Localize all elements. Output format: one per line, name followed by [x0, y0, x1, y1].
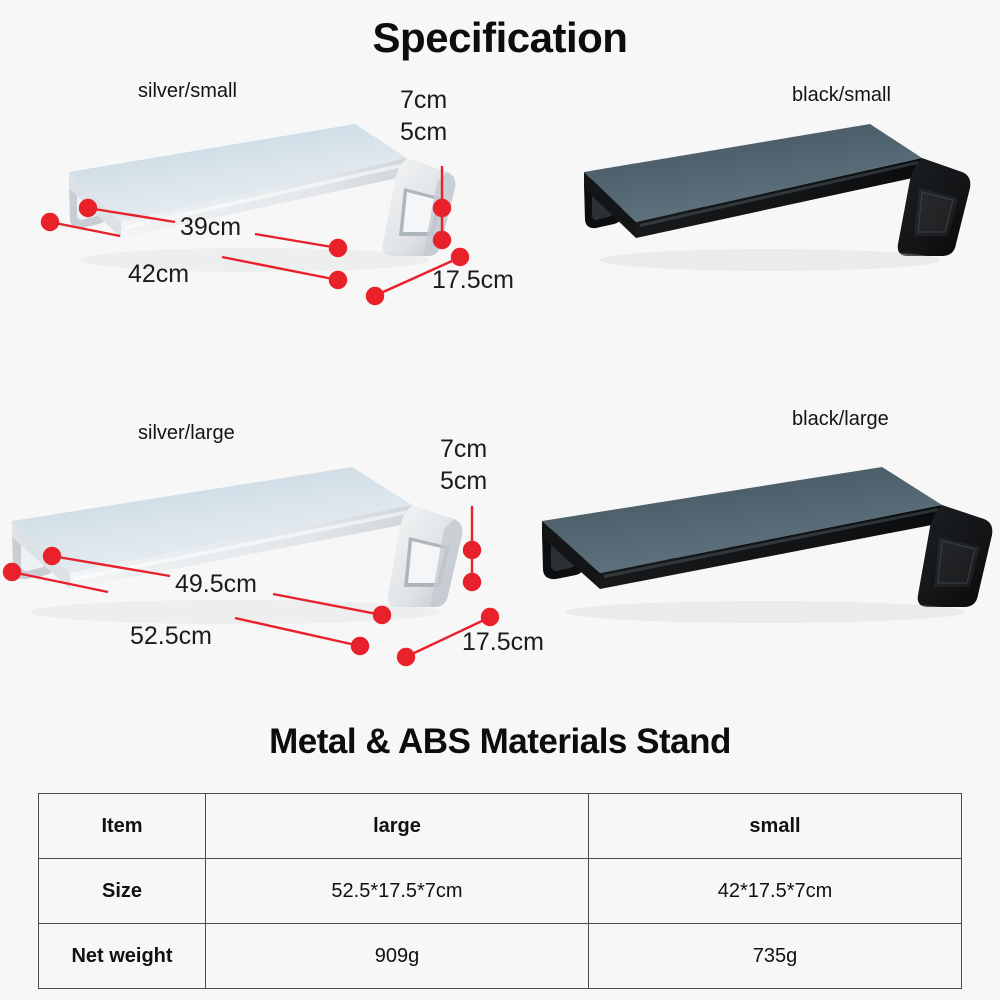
product-black-large: black/large	[525, 400, 1000, 670]
dim-outer-length-silver-small: 42cm	[128, 260, 189, 289]
table-row-net-weight: Net weight 909g 735g	[39, 924, 962, 989]
dim-inner-length-silver-large: 49.5cm	[175, 570, 257, 599]
specification-table: Item large small Size 52.5*17.5*7cm 42*1…	[38, 793, 962, 989]
table-cell-size-small: 42*17.5*7cm	[589, 859, 962, 924]
dim-height-inner-silver-large: 5cm	[440, 467, 487, 496]
stand-illustration-black-large	[530, 455, 1000, 665]
dim-inner-length-silver-small: 39cm	[180, 213, 241, 242]
product-label-silver-large: silver/large	[138, 422, 235, 445]
dim-depth-silver-small: 17.5cm	[432, 266, 514, 295]
stand-illustration-silver-large	[0, 455, 500, 665]
page-title: Specification	[0, 14, 1000, 62]
dim-height-inner-silver-small: 5cm	[400, 118, 447, 147]
table-rowhead-size: Size	[39, 859, 206, 924]
dim-height-outer-silver-small: 7cm	[400, 86, 447, 115]
table-header-small: small	[589, 794, 962, 859]
table-cell-weight-large: 909g	[206, 924, 589, 989]
table-cell-size-large: 52.5*17.5*7cm	[206, 859, 589, 924]
materials-heading: Metal & ABS Materials Stand	[0, 722, 1000, 762]
product-silver-large: silver/large	[0, 410, 560, 690]
product-label-black-small: black/small	[792, 84, 891, 107]
dim-height-outer-silver-large: 7cm	[440, 435, 487, 464]
product-black-small: black/small	[560, 70, 1000, 320]
dim-outer-length-silver-large: 52.5cm	[130, 622, 212, 651]
stand-illustration-black-small	[570, 110, 990, 310]
table-header-large: large	[206, 794, 589, 859]
product-silver-small: silver/small	[0, 70, 560, 320]
table-cell-weight-small: 735g	[589, 924, 962, 989]
specification-page: Specification silver/small	[0, 0, 1000, 1000]
table-row-size: Size 52.5*17.5*7cm 42*17.5*7cm	[39, 859, 962, 924]
product-label-silver-small: silver/small	[138, 80, 237, 103]
table-header-row: Item large small	[39, 794, 962, 859]
table-rowhead-net-weight: Net weight	[39, 924, 206, 989]
table-header-item: Item	[39, 794, 206, 859]
product-label-black-large: black/large	[792, 408, 889, 431]
